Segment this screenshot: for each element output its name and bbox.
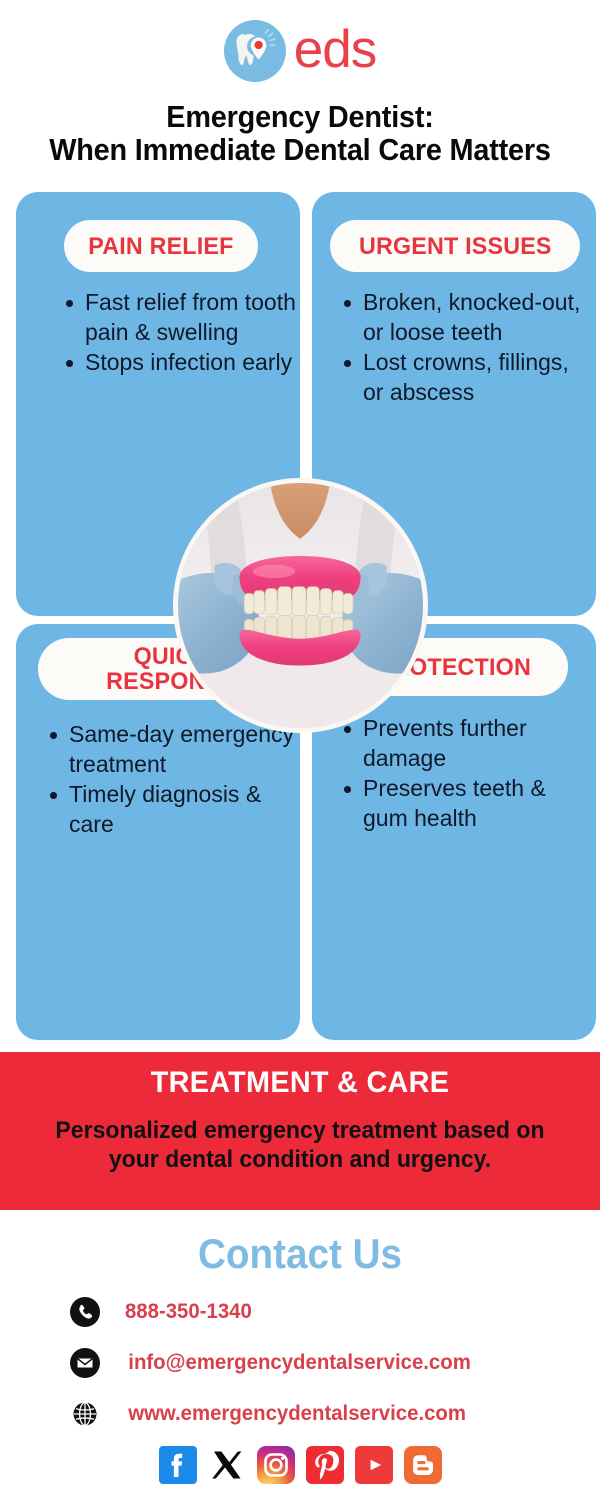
contact-row-email[interactable]: info@emergencydentalservice.com (70, 1346, 476, 1380)
card-label-urgent-issues: URGENT ISSUES (330, 220, 580, 272)
x-twitter-icon[interactable] (208, 1446, 246, 1484)
infographic-root: eds Emergency Dentist: When Immediate De… (0, 0, 600, 1500)
card-label-pain-relief: PAIN RELIEF (64, 220, 258, 272)
tooth-location-pin-icon (224, 20, 286, 82)
page-title-line-2: When Immediate Dental Care Matters (28, 133, 571, 166)
email-address[interactable]: info@emergencydentalservice.com (128, 1352, 471, 1374)
brand-logo[interactable]: eds (0, 12, 600, 90)
brand-wordmark: eds (294, 23, 376, 76)
instagram-icon[interactable] (257, 1446, 295, 1484)
list-item: Lost crowns, fillings, or abscess (340, 348, 592, 407)
card-label-text: URGENT ISSUES (359, 234, 552, 259)
blogger-icon[interactable] (404, 1446, 442, 1484)
phone-number[interactable]: 888-350-1340 (125, 1301, 252, 1323)
contact-us-heading: Contact Us (24, 1232, 576, 1276)
list-item: Same-day emergency treatment (46, 720, 296, 779)
banner-title: TREATMENT & CARE (12, 1068, 588, 1098)
list-item: Prevents further damage (340, 714, 596, 773)
youtube-icon[interactable] (355, 1446, 393, 1484)
bullet-list-urgent-issues: Broken, knocked-out, or loose teeth Lost… (340, 288, 592, 408)
contact-row-phone[interactable]: 888-350-1340 (70, 1295, 254, 1329)
phone-icon (70, 1297, 100, 1327)
page-title: Emergency Dentist: When Immediate Dental… (8, 100, 592, 166)
bullet-list-pain-relief: Fast relief from tooth pain & swelling S… (62, 288, 300, 379)
contact-row-website[interactable]: www.emergencydentalservice.com (70, 1397, 471, 1431)
list-item: Broken, knocked-out, or loose teeth (340, 288, 592, 347)
facebook-icon[interactable] (159, 1446, 197, 1484)
bullet-list-quick-response: Same-day emergency treatment Timely diag… (46, 720, 296, 840)
bullet-list-protection: Prevents further damage Preserves teeth … (340, 714, 596, 834)
denture-photo (173, 478, 428, 733)
list-item: Stops infection early (62, 348, 300, 378)
list-item: Timely diagnosis & care (46, 780, 296, 839)
social-links (0, 1446, 600, 1484)
page-title-line-1: Emergency Dentist: (28, 100, 571, 133)
list-item: Preserves teeth & gum health (340, 774, 596, 833)
envelope-icon (70, 1348, 100, 1378)
website-url[interactable]: www.emergencydentalservice.com (128, 1403, 466, 1425)
pinterest-icon[interactable] (306, 1446, 344, 1484)
treatment-care-banner: TREATMENT & CARE Personalized emergency … (0, 1052, 600, 1210)
banner-body: Personalized emergency treatment based o… (33, 1116, 567, 1174)
card-label-text: PAIN RELIEF (88, 234, 233, 259)
denture-photo-illustration (178, 483, 423, 728)
list-item: Fast relief from tooth pain & swelling (62, 288, 300, 347)
globe-icon (70, 1399, 100, 1429)
